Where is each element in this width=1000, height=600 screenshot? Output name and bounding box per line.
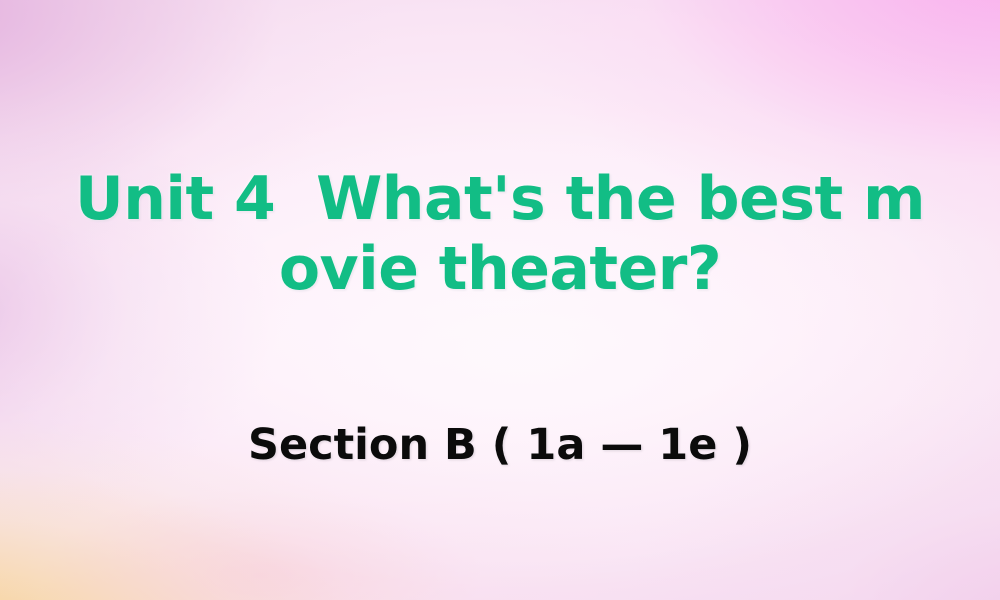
slide-title: Unit 4 What's the best m ovie theater? — [0, 164, 1000, 304]
slide-subtitle-text: Section B ( 1a — 1e ) — [248, 418, 752, 472]
slide-title-line-2: ovie theater? — [0, 234, 1000, 304]
presentation-slide: Unit 4 What's the best m ovie theater? S… — [0, 0, 1000, 600]
slide-title-line-1: Unit 4 What's the best m — [0, 164, 1000, 234]
slide-subtitle: Section B ( 1a — 1e ) — [0, 418, 1000, 472]
slide-content: Unit 4 What's the best m ovie theater? S… — [0, 0, 1000, 600]
